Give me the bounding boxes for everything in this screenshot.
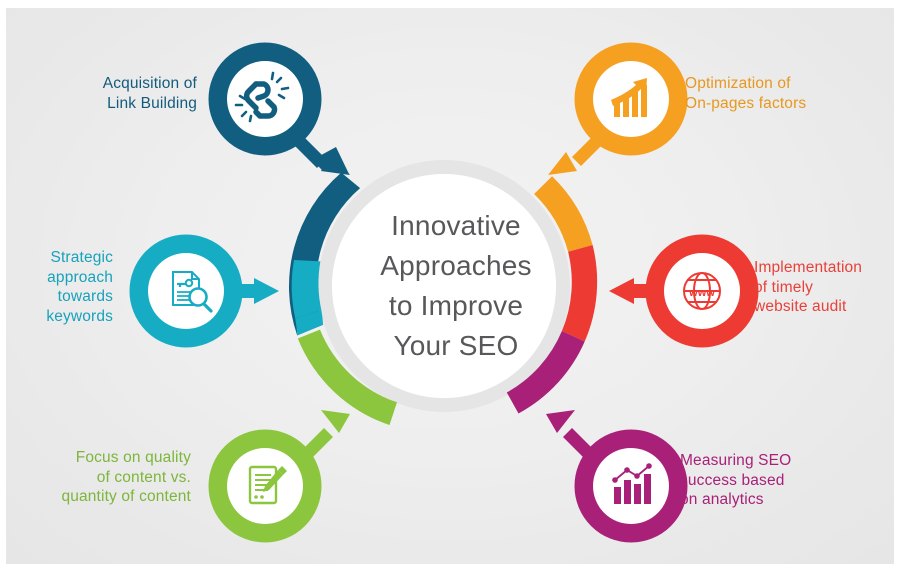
on-page-icon-bg — [593, 61, 669, 137]
node-website-audit[interactable]: www — [609, 244, 749, 338]
label-on-page-factors: Optimization of On-pages factors — [685, 74, 806, 113]
label-keywords: Strategic approach towards keywords — [46, 248, 113, 326]
on-page-arrowhead — [548, 152, 577, 175]
svg-text:www: www — [688, 287, 715, 299]
label-website-audit: Implementation of timely website audit — [754, 258, 862, 317]
center-title: Innovative Approaches to Improve Your SE… — [318, 206, 594, 366]
node-on-page-factors[interactable] — [548, 52, 678, 175]
analytics-connector — [563, 428, 597, 462]
node-link-building[interactable] — [218, 52, 350, 175]
label-content-quality: Focus on quality of content vs. quantity… — [61, 448, 191, 507]
link-building-icon-bg — [227, 61, 303, 137]
node-content-quality[interactable] — [218, 410, 350, 533]
label-seo-analytics: Measuring SEO success based on analytics — [680, 451, 791, 510]
keywords-arrowhead — [254, 278, 279, 304]
node-keywords[interactable] — [139, 244, 279, 338]
website-audit-arrowhead — [609, 278, 634, 304]
infographic-stage: www — [6, 8, 894, 564]
node-seo-analytics[interactable] — [546, 410, 678, 533]
ring-segment-keywords — [292, 260, 322, 318]
content-connector — [299, 428, 333, 462]
infographic-canvas: www — [0, 0, 900, 572]
on-page-connector — [572, 132, 606, 166]
label-link-building: Acquisition of Link Building — [103, 74, 197, 113]
